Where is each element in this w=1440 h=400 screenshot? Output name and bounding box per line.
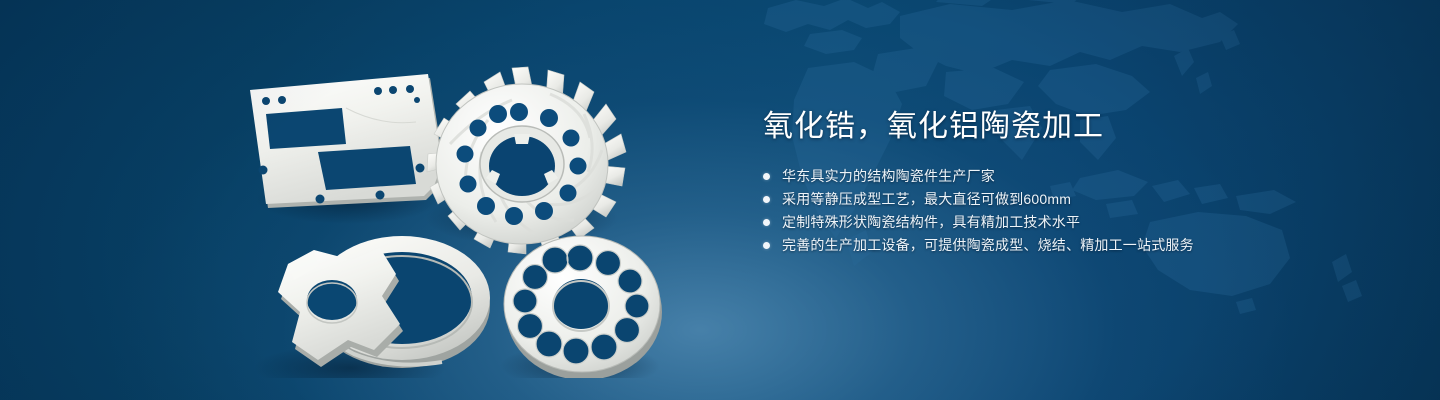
list-item-label: 定制特殊形状陶瓷结构件，具有精加工技术水平 [782,214,1080,230]
page-title: 氧化锆，氧化铝陶瓷加工 [763,108,1383,146]
ceramic-products-photo [230,48,730,378]
list-item-label: 华东具实力的结构陶瓷件生产厂家 [782,168,995,184]
bullet-dot-icon [763,242,770,249]
list-item-label: 采用等静压成型工艺，最大直径可做到600mm [782,191,1071,207]
ceramic-perforated-disc [504,236,662,378]
hero-banner: 氧化锆，氧化铝陶瓷加工 华东具实力的结构陶瓷件生产厂家 采用等静压成型工艺，最大… [0,0,1440,400]
feature-list: 华东具实力的结构陶瓷件生产厂家 采用等静压成型工艺，最大直径可做到600mm 定… [763,168,1383,253]
list-item: 定制特殊形状陶瓷结构件，具有精加工技术水平 [763,214,1383,230]
bullet-dot-icon [763,196,770,203]
list-item: 完善的生产加工设备，可提供陶瓷成型、烧结、精加工一站式服务 [763,237,1383,253]
list-item-label: 完善的生产加工设备，可提供陶瓷成型、烧结、精加工一站式服务 [782,237,1194,253]
bullet-dot-icon [763,173,770,180]
bullet-dot-icon [763,219,770,226]
list-item: 华东具实力的结构陶瓷件生产厂家 [763,168,1383,184]
banner-copy: 氧化锆，氧化铝陶瓷加工 华东具实力的结构陶瓷件生产厂家 采用等静压成型工艺，最大… [763,108,1383,253]
list-item: 采用等静压成型工艺，最大直径可做到600mm [763,191,1383,207]
ceramic-mounting-plate [250,74,444,208]
ceramic-cross-plate [278,248,403,367]
